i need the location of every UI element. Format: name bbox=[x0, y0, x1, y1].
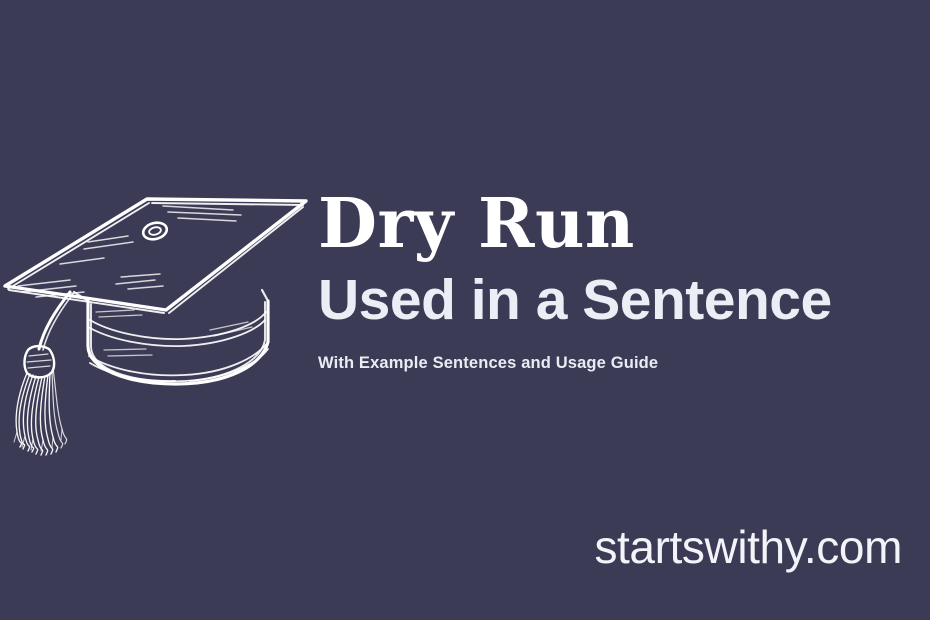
headline-block: Dry Run Used in a Sentence With Example … bbox=[318, 186, 918, 374]
tassel-strands-secondary bbox=[52, 368, 67, 448]
tassel-strands bbox=[16, 373, 58, 455]
page-tagline: With Example Sentences and Usage Guide bbox=[318, 352, 918, 374]
site-brand-label: startswithy.com bbox=[594, 519, 902, 575]
word-usage-banner: Dry Run Used in a Sentence With Example … bbox=[0, 0, 930, 620]
page-subtitle: Used in a Sentence bbox=[318, 268, 918, 332]
page-title: Dry Run bbox=[318, 186, 918, 262]
cap-body-hatching bbox=[96, 310, 252, 356]
mortarboard-button bbox=[141, 220, 168, 241]
graduation-cap-icon bbox=[0, 170, 320, 460]
tassel-knot-hatching bbox=[27, 354, 51, 368]
mortarboard-top-shape bbox=[5, 199, 306, 310]
tassel-cord-sketch bbox=[43, 294, 73, 350]
